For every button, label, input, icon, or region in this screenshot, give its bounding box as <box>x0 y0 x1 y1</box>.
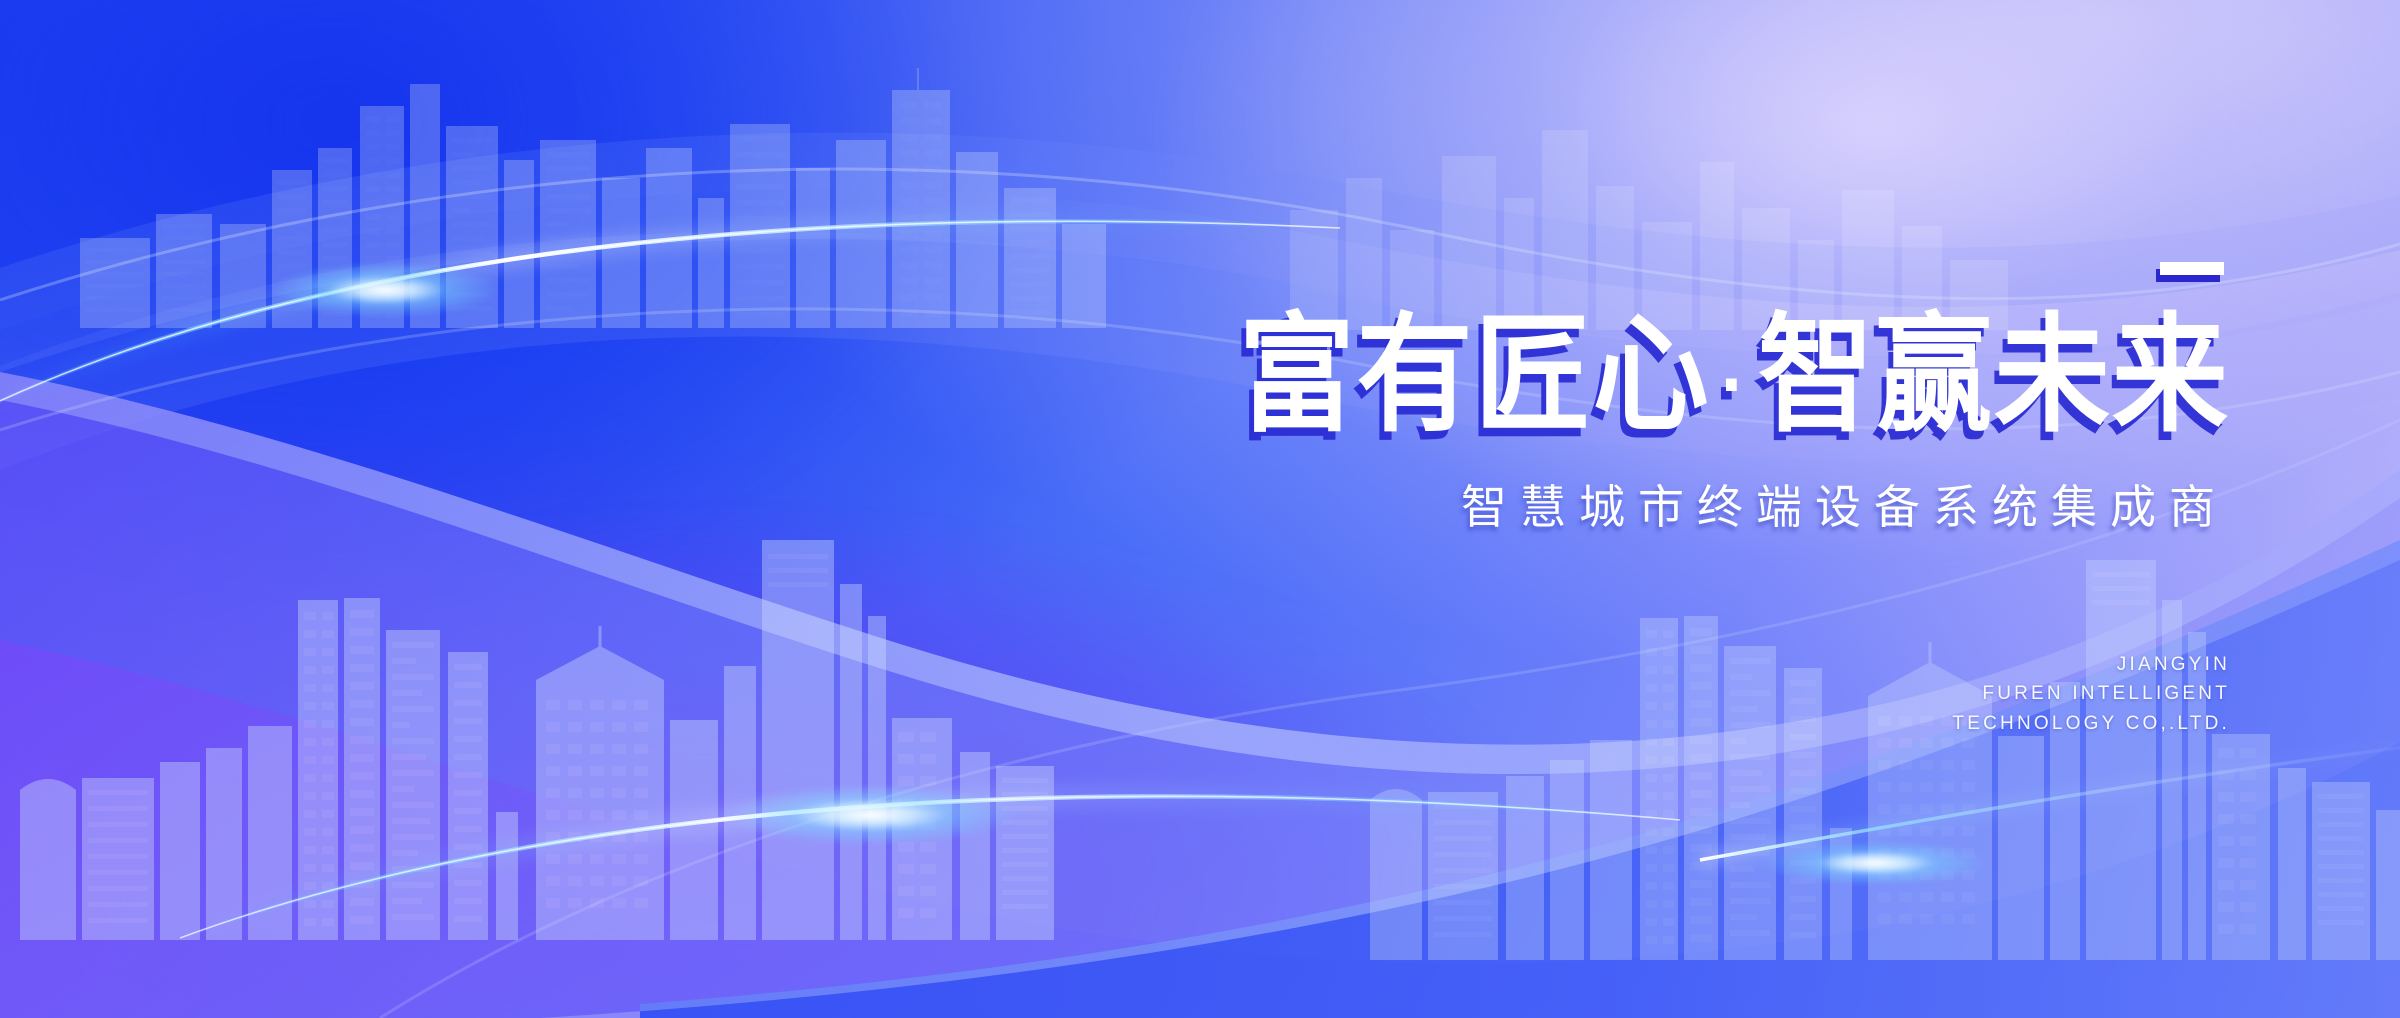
banner-stage: 富有匠心·智赢未来 智慧城市终端设备系统集成商 JIANGYIN FUREN I… <box>0 0 2400 1018</box>
company-line-3: TECHNOLOGY CO,.LTD. <box>1952 709 2230 738</box>
city-skyline-bottom-left <box>0 540 1060 940</box>
light-burst-right <box>1760 840 1990 886</box>
page-subtitle: 智慧城市终端设备系统集成商 <box>1030 471 2230 537</box>
headline-separator: · <box>1711 338 1758 432</box>
company-line-1: JIANGYIN <box>1952 650 2230 679</box>
city-skyline-top-left <box>60 28 1120 328</box>
headline-right: 智赢未来 <box>1758 303 2230 446</box>
headline-left: 富有匠心 <box>1239 303 1711 446</box>
page-title: 富有匠心·智赢未来 <box>1030 310 2230 441</box>
dash-decoration-icon <box>2160 262 2224 275</box>
light-burst-bottom <box>720 784 1020 846</box>
light-burst-top <box>270 262 500 318</box>
city-skyline-bottom-right <box>1340 560 2400 960</box>
company-line-2: FUREN INTELLIGENT <box>1952 679 2230 708</box>
company-name-block: JIANGYIN FUREN INTELLIGENT TECHNOLOGY CO… <box>1952 650 2230 738</box>
headline-group: 富有匠心·智赢未来 智慧城市终端设备系统集成商 <box>1030 262 2230 537</box>
